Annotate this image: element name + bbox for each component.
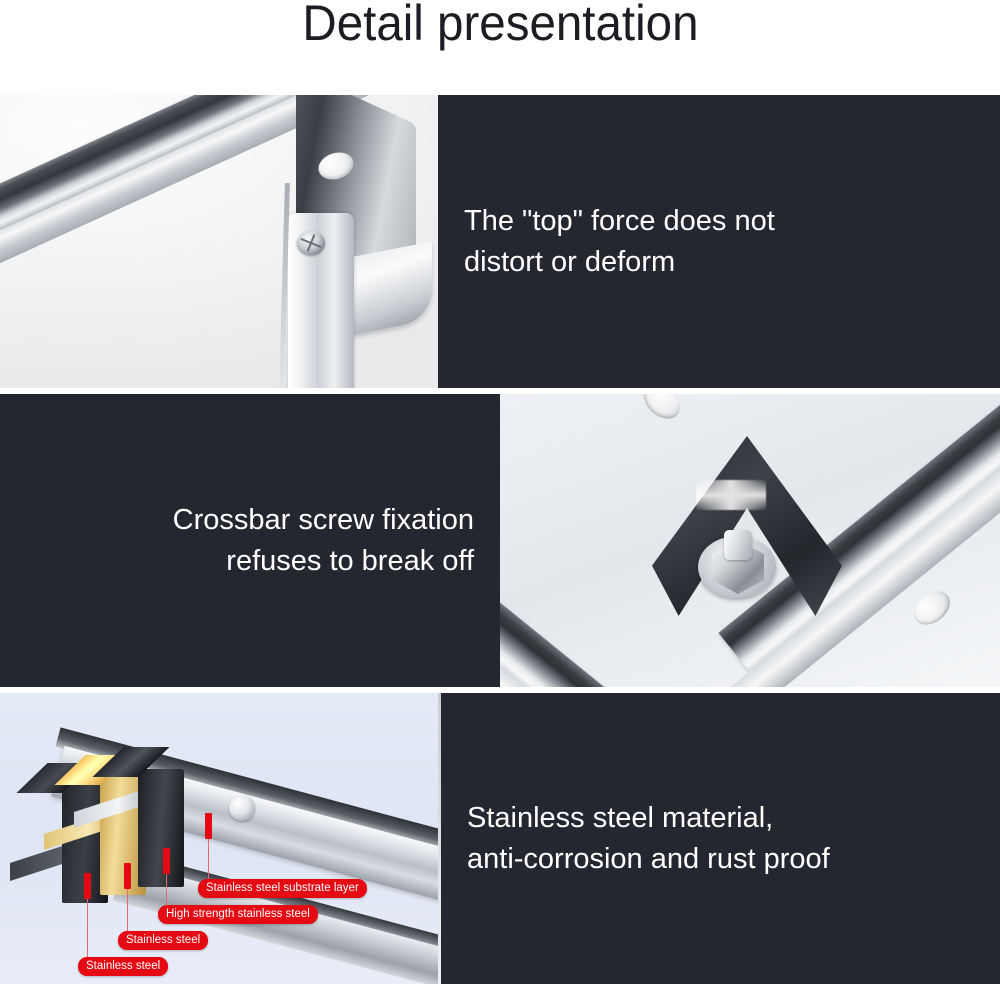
callout-tick — [84, 873, 91, 899]
caption-line: refuses to break off — [26, 541, 474, 582]
panel-1-caption-pane: The "top" force does not distort or defo… — [438, 95, 1000, 388]
caption-line: distort or deform — [464, 242, 974, 283]
panel-3-caption-pane: Stainless steel material, anti-corrosion… — [441, 693, 1000, 984]
caption-line: The "top" force does not — [464, 201, 974, 242]
callout-tick — [124, 863, 131, 889]
panel-2-photo — [500, 394, 1000, 687]
detail-presentation-page: Detail presentation The "top" force does… — [0, 0, 1000, 984]
phillips-screw-icon — [297, 231, 325, 255]
callout-tick — [163, 848, 170, 874]
panel-2-caption-pane: Crossbar screw fixation refuses to break… — [0, 394, 500, 687]
panel-1-caption: The "top" force does not distort or defo… — [438, 201, 1000, 283]
callout-label-substrate: Stainless steel substrate layer — [198, 879, 367, 898]
bracket-crossbar-screw-junction-photo — [500, 394, 1000, 687]
callout-leader-line — [208, 839, 209, 879]
caption-line: Crossbar screw fixation — [26, 500, 474, 541]
rivet-icon — [229, 795, 255, 821]
page-header: Detail presentation — [0, 0, 1000, 95]
caption-line: anti-corrosion and rust proof — [467, 839, 974, 880]
panel-2: Crossbar screw fixation refuses to break… — [0, 394, 1000, 687]
callout-tick — [205, 813, 212, 839]
panel-3-caption: Stainless steel material, anti-corrosion… — [441, 798, 1000, 880]
layer-inner-black — [138, 769, 184, 887]
panel-1-photo — [0, 95, 438, 388]
panel-2-caption: Crossbar screw fixation refuses to break… — [0, 500, 500, 582]
specular-highlight — [696, 480, 766, 510]
bolt-stud-icon — [724, 530, 752, 560]
panel-3-photo: Stainless steel substrate layer High str… — [0, 693, 441, 984]
page-title: Detail presentation — [302, 0, 698, 50]
bracket-material-layer-diagram: Stainless steel substrate layer High str… — [0, 693, 441, 984]
callout-label-stainless-2: Stainless steel — [118, 931, 208, 950]
callout-label-high-strength: High strength stainless steel — [158, 905, 318, 924]
panel-1: The "top" force does not distort or defo… — [0, 95, 1000, 388]
callout-label-stainless-1: Stainless steel — [78, 957, 168, 976]
panel-3: Stainless steel substrate layer High str… — [0, 693, 1000, 984]
stainless-steel-bracket-top-load-photo — [0, 95, 438, 388]
caption-line: Stainless steel material, — [467, 798, 974, 839]
